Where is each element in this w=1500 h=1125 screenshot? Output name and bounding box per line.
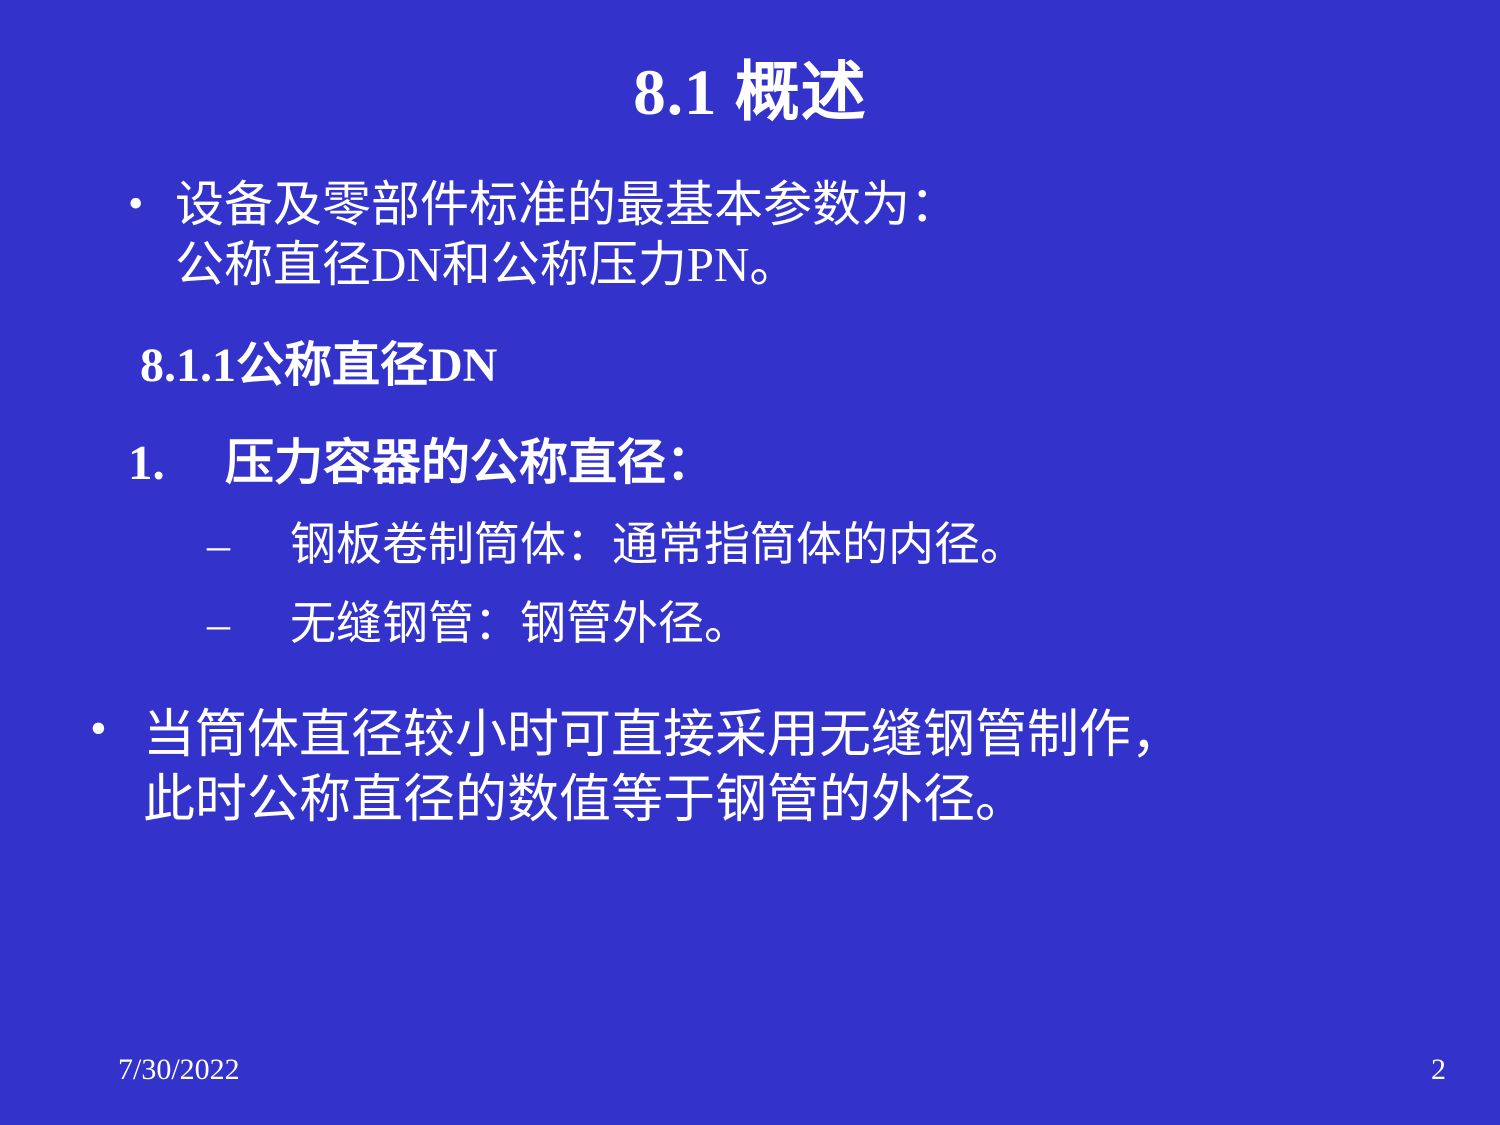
- page-title: 8.1 概述: [0, 58, 1500, 130]
- sub-list-item-label: 钢板卷制筒体：通常指筒体的内径。: [290, 517, 1026, 571]
- bullet-icon: •: [128, 175, 143, 232]
- footer-date: 7/30/2022: [118, 1053, 240, 1087]
- dash-icon: –: [207, 517, 230, 572]
- list-number: 1.: [128, 434, 165, 493]
- bullet-icon: •: [90, 699, 107, 759]
- sub-list-item-label: 无缝钢管：钢管外径。: [290, 596, 750, 650]
- sub-list-item: – 钢板卷制筒体：通常指筒体的内径。: [0, 517, 1500, 572]
- slide: 8.1 概述 • 设备及零部件标准的最基本参数为： 公称直径DN和公称压力PN。…: [0, 0, 1500, 1125]
- numbered-list-item: 1. 压力容器的公称直径：: [0, 434, 1500, 493]
- list-item-line: 此时公称直径的数值等于钢管的外径。: [143, 768, 1460, 832]
- section-heading: 8.1.1公称直径DN: [0, 337, 1500, 395]
- numbered-list-item-label: 压力容器的公称直径：: [225, 435, 715, 490]
- list-item: • 当筒体直径较小时可直接采用无缝钢管制作， 此时公称直径的数值等于钢管的外径。: [0, 703, 1500, 832]
- slide-body: • 设备及零部件标准的最基本参数为： 公称直径DN和公称压力PN。 8.1.1公…: [0, 175, 1500, 832]
- list-item-line: 当筒体直径较小时可直接采用无缝钢管制作，: [143, 703, 1460, 767]
- sub-list-item: – 无缝钢管：钢管外径。: [0, 596, 1500, 651]
- list-item: • 设备及零部件标准的最基本参数为： 公称直径DN和公称压力PN。: [0, 175, 1500, 295]
- list-item-line: 设备及零部件标准的最基本参数为：: [175, 175, 1445, 235]
- footer-page-number: 2: [1431, 1053, 1446, 1087]
- list-item-line: 公称直径DN和公称压力PN。: [175, 235, 1445, 295]
- dash-icon: –: [207, 596, 230, 651]
